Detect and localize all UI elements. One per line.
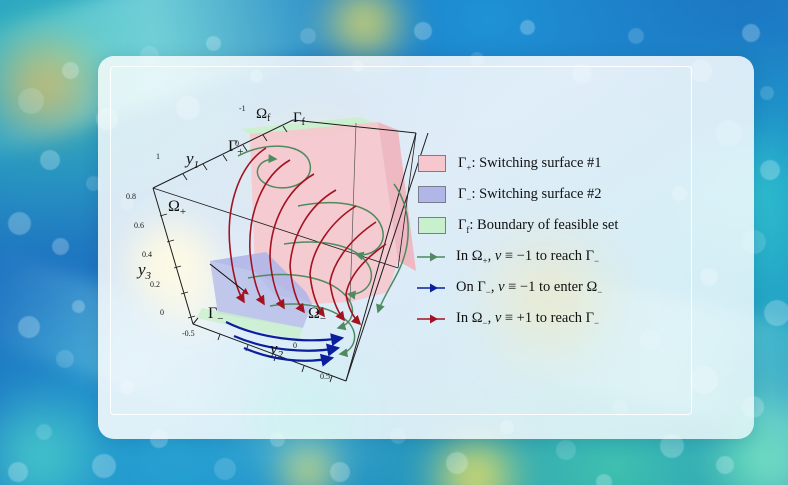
legend-arrow-icon-omega-plus-trajectory xyxy=(416,250,446,264)
bokeh-dot xyxy=(72,300,85,313)
bokeh-dot xyxy=(414,22,432,40)
axis-label-y1: y1 xyxy=(184,149,199,171)
region-label-omega-f: Ωf xyxy=(256,106,271,124)
bokeh-dot xyxy=(206,36,221,51)
bokeh-dot xyxy=(8,462,28,482)
legend-row-feasible-boundary: Γf: Boundary of feasible set xyxy=(416,210,716,241)
bokeh-dot xyxy=(742,24,760,42)
slide-canvas: y1 y2 y3 -1 0 1 0.8 0.6 0.4 0.2 0 -0.5 0… xyxy=(0,0,788,485)
legend-label-feasible-boundary: Γf: Boundary of feasible set xyxy=(458,217,618,235)
tick-y3: 0.4 xyxy=(142,250,152,259)
axis-label-y3: y3 xyxy=(136,260,152,282)
region-label-gamma-f: Γf xyxy=(293,110,306,128)
legend-row-omega-minus-trajectory: In Ω−, v ≡ +1 to reach Γ− xyxy=(416,303,716,334)
legend-arrow-icon-omega-minus-trajectory xyxy=(416,312,446,326)
legend-row-gamma-minus-trajectory: On Γ−, v ≡ −1 to enter Ω− xyxy=(416,272,716,303)
bokeh-dot xyxy=(596,474,612,485)
tick-y2: -0.5 xyxy=(182,329,195,338)
bokeh-dot xyxy=(92,454,116,478)
bokeh-dot xyxy=(8,212,31,235)
figure-legend: Γ+: Switching surface #1Γ−: Switching su… xyxy=(416,148,716,334)
tick-y2: 0 xyxy=(293,341,297,350)
legend-row-switching-surface-2: Γ−: Switching surface #2 xyxy=(416,179,716,210)
tick-y3: 0 xyxy=(160,308,164,317)
bokeh-dot xyxy=(56,350,74,368)
legend-row-omega-plus-trajectory: In Ω+, v ≡ −1 to reach Γ− xyxy=(416,241,716,272)
bokeh-dot xyxy=(18,316,40,338)
region-label-gamma-plus: Γ+ xyxy=(228,138,243,158)
legend-label-omega-plus-trajectory: In Ω+, v ≡ −1 to reach Γ− xyxy=(456,248,599,266)
legend-swatch-feasible-boundary xyxy=(418,217,446,234)
tick-y1: 1 xyxy=(156,152,160,161)
tick-y3: 0.8 xyxy=(126,192,136,201)
axis-label-y2: y2 xyxy=(268,339,284,361)
tick-y2: 0.5 xyxy=(320,372,330,381)
bokeh-dot xyxy=(40,150,60,170)
legend-label-switching-surface-2: Γ−: Switching surface #2 xyxy=(458,186,602,204)
bokeh-dot xyxy=(446,452,468,474)
bokeh-dot xyxy=(36,424,52,440)
legend-swatch-switching-surface-1 xyxy=(418,155,446,172)
bokeh-dot xyxy=(760,86,774,100)
legend-row-switching-surface-1: Γ+: Switching surface #1 xyxy=(416,148,716,179)
legend-label-omega-minus-trajectory: In Ω−, v ≡ +1 to reach Γ− xyxy=(456,310,599,328)
bokeh-dot xyxy=(628,28,644,44)
bokeh-dot xyxy=(716,456,734,474)
legend-label-gamma-minus-trajectory: On Γ−, v ≡ −1 to enter Ω− xyxy=(456,279,602,297)
legend-swatch-switching-surface-2 xyxy=(418,186,446,203)
bokeh-dot xyxy=(330,462,350,482)
bokeh-dot xyxy=(556,440,576,460)
legend-label-switching-surface-1: Γ+: Switching surface #1 xyxy=(458,155,602,173)
tick-y3: 0.6 xyxy=(134,221,144,230)
bokeh-dot xyxy=(300,28,316,44)
bokeh-dot xyxy=(760,160,780,180)
bokeh-dot xyxy=(764,300,788,326)
region-label-omega-plus: Ω+ xyxy=(168,198,186,218)
tick-y3: 0.2 xyxy=(150,280,160,289)
legend-arrow-icon-gamma-minus-trajectory xyxy=(416,281,446,295)
bokeh-dot xyxy=(62,62,79,79)
bokeh-dot xyxy=(214,458,236,480)
bokeh-dot xyxy=(18,88,44,114)
bokeh-dot xyxy=(52,238,69,255)
tick-y1: -1 xyxy=(239,104,246,113)
bokeh-dot xyxy=(520,20,535,35)
